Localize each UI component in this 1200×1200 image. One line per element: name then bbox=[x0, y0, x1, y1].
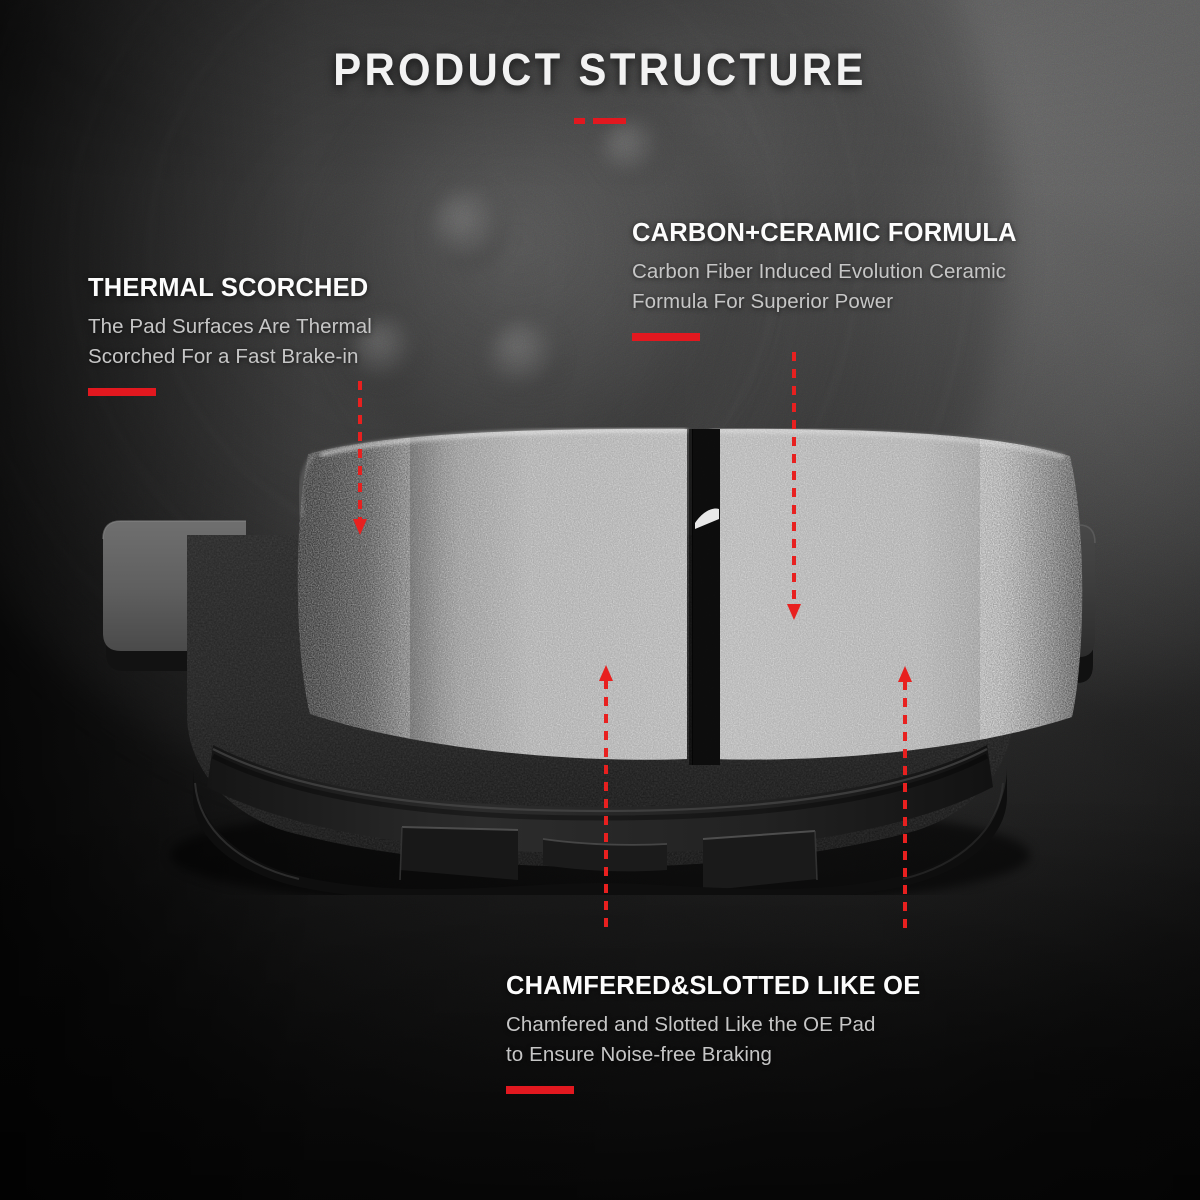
callout-body: Carbon Fiber Induced Evolution Ceramic F… bbox=[632, 257, 1017, 317]
leader-stem bbox=[604, 680, 608, 930]
callout-body-line-2: to Ensure Noise-free Braking bbox=[506, 1043, 772, 1066]
callout-accent-bar bbox=[506, 1086, 574, 1094]
callout-body: Chamfered and Slotted Like the OE Pad to… bbox=[506, 1010, 920, 1070]
callout-heading: THERMAL SCORCHED bbox=[88, 274, 372, 303]
callout-body-line-2: Formula For Superior Power bbox=[632, 290, 893, 313]
center-slot bbox=[689, 429, 720, 765]
page-title: PRODUCT STRUCTURE bbox=[42, 44, 1158, 96]
leader-line-chamfer-center bbox=[599, 665, 613, 932]
callout-carbon-ceramic-formula: CARBON+CERAMIC FORMULA Carbon Fiber Indu… bbox=[632, 219, 1017, 341]
leader-line-carbon-ceramic bbox=[787, 352, 801, 624]
arrow-up-icon bbox=[599, 665, 613, 681]
callout-body-line-2: Scorched For a Fast Brake-in bbox=[88, 345, 359, 368]
leader-stem bbox=[358, 381, 362, 521]
leader-line-thermal-scorched bbox=[353, 381, 367, 537]
callout-body: The Pad Surfaces Are Thermal Scorched Fo… bbox=[88, 312, 372, 372]
callout-chamfered-slotted-like-oe: CHAMFERED&SLOTTED LIKE OE Chamfered and … bbox=[506, 972, 920, 1094]
product-structure-infographic: PRODUCT STRUCTURE bbox=[0, 0, 1200, 1200]
leader-stem bbox=[792, 352, 796, 606]
callout-heading: CARBON+CERAMIC FORMULA bbox=[632, 219, 1017, 248]
callout-thermal-scorched: THERMAL SCORCHED The Pad Surfaces Are Th… bbox=[88, 274, 372, 396]
callout-body-line-1: Chamfered and Slotted Like the OE Pad bbox=[506, 1013, 876, 1036]
leader-stem bbox=[903, 681, 907, 930]
leader-line-chamfer-right bbox=[898, 666, 912, 932]
arrow-down-icon bbox=[787, 604, 801, 620]
arrow-up-icon bbox=[898, 666, 912, 682]
callout-accent-bar bbox=[632, 333, 700, 341]
callout-body-line-1: The Pad Surfaces Are Thermal bbox=[88, 315, 372, 338]
callout-body-line-1: Carbon Fiber Induced Evolution Ceramic bbox=[632, 260, 1006, 283]
arrow-down-icon bbox=[353, 519, 367, 535]
callout-accent-bar bbox=[88, 388, 156, 396]
callout-heading: CHAMFERED&SLOTTED LIKE OE bbox=[506, 972, 920, 1001]
